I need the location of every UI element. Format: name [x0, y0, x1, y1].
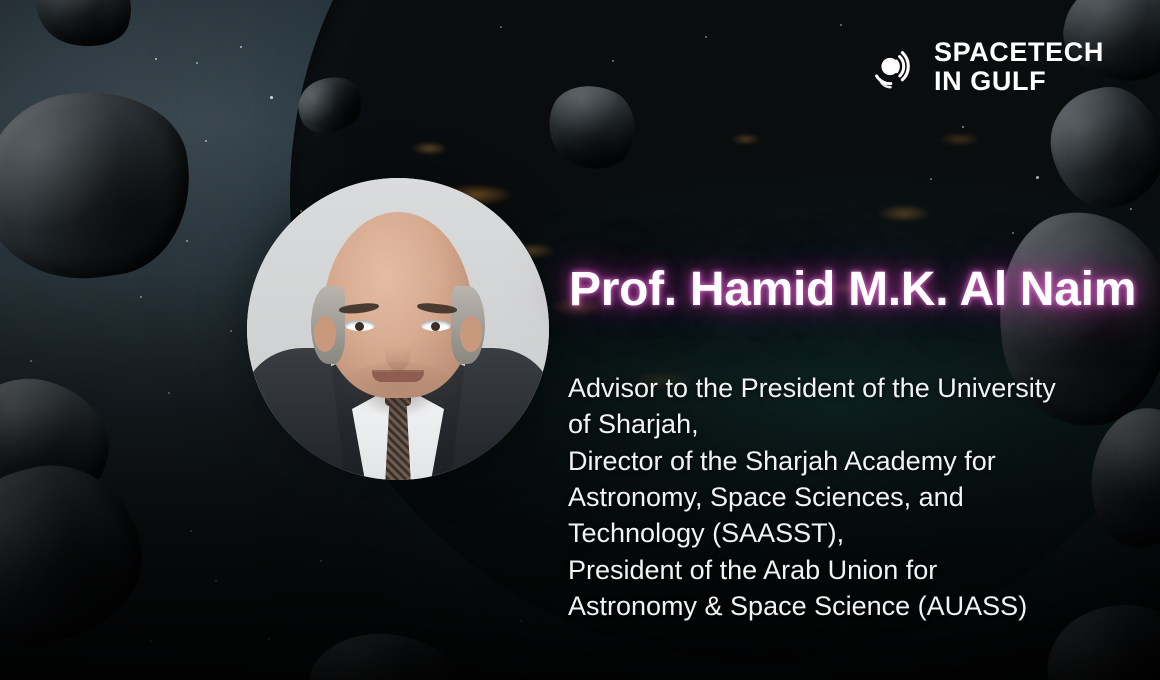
brand-wordmark: SPACETECH IN GULF — [934, 38, 1104, 96]
brand-line-1: SPACETECH — [934, 38, 1104, 67]
brand-logo[interactable]: SPACETECH IN GULF — [866, 38, 1104, 96]
bio-line: Technology (SAASST), — [568, 515, 1056, 551]
bio-line: of Sharjah, — [568, 406, 1056, 442]
speaker-bio: Advisor to the President of the Universi… — [568, 370, 1056, 624]
pupil-left — [355, 322, 364, 331]
bio-line: Advisor to the President of the Universi… — [568, 370, 1056, 406]
pupil-right — [431, 322, 440, 331]
bio-line: Astronomy, Space Sciences, and — [568, 479, 1056, 515]
suit-lapel-right — [451, 348, 549, 480]
spiral-swirl-icon — [866, 41, 918, 93]
speaker-photo — [247, 178, 549, 480]
brand-line-2: IN GULF — [934, 67, 1104, 96]
ear-right — [460, 316, 482, 352]
bio-line: Director of the Sharjah Academy for — [568, 443, 1056, 479]
suit-lapel-left — [247, 348, 345, 480]
eye-right — [421, 320, 451, 331]
speaker-name: Prof. Hamid M.K. Al Naim — [569, 266, 1136, 314]
ear-left — [314, 316, 336, 352]
jaw-shading — [338, 362, 458, 418]
bio-line: President of the Arab Union for — [568, 552, 1056, 588]
eye-left — [345, 320, 375, 331]
bio-line: Astronomy & Space Science (AUASS) — [568, 588, 1056, 624]
speaker-announcement-graphic: SPACETECH IN GULF Prof. Hamid M.K. Al — [0, 0, 1160, 680]
mouth — [372, 372, 424, 382]
